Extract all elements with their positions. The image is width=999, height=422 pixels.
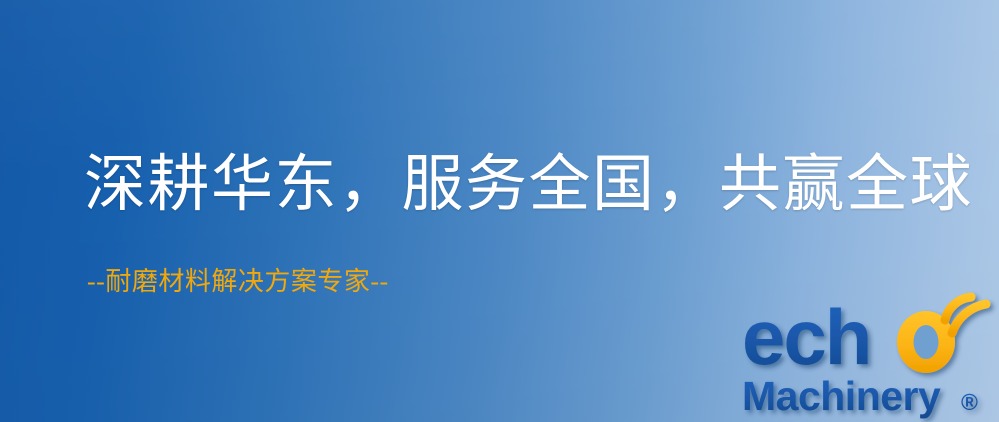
page-subtitle: --耐磨材料解决方案专家-- — [87, 266, 389, 297]
logo-text-machinery: Machinery — [742, 373, 941, 419]
hero-banner: 深耕华东，服务全国，共赢全球 --耐磨材料解决方案专家-- — [0, 0, 999, 422]
page-title: 深耕华东，服务全国，共赢全球 — [84, 152, 973, 219]
company-logo[interactable]: ech Machinery ® — [740, 294, 999, 422]
logo-trademark-symbol: ® — [961, 389, 978, 415]
logo-text-ech: ech — [742, 293, 870, 381]
logo-subbrand-group: Machinery ® — [742, 373, 978, 419]
logo-graphic: ech Machinery ® — [740, 294, 999, 422]
echo-wave-icon — [945, 297, 986, 333]
logo-wordmark-echo: ech — [742, 293, 986, 381]
